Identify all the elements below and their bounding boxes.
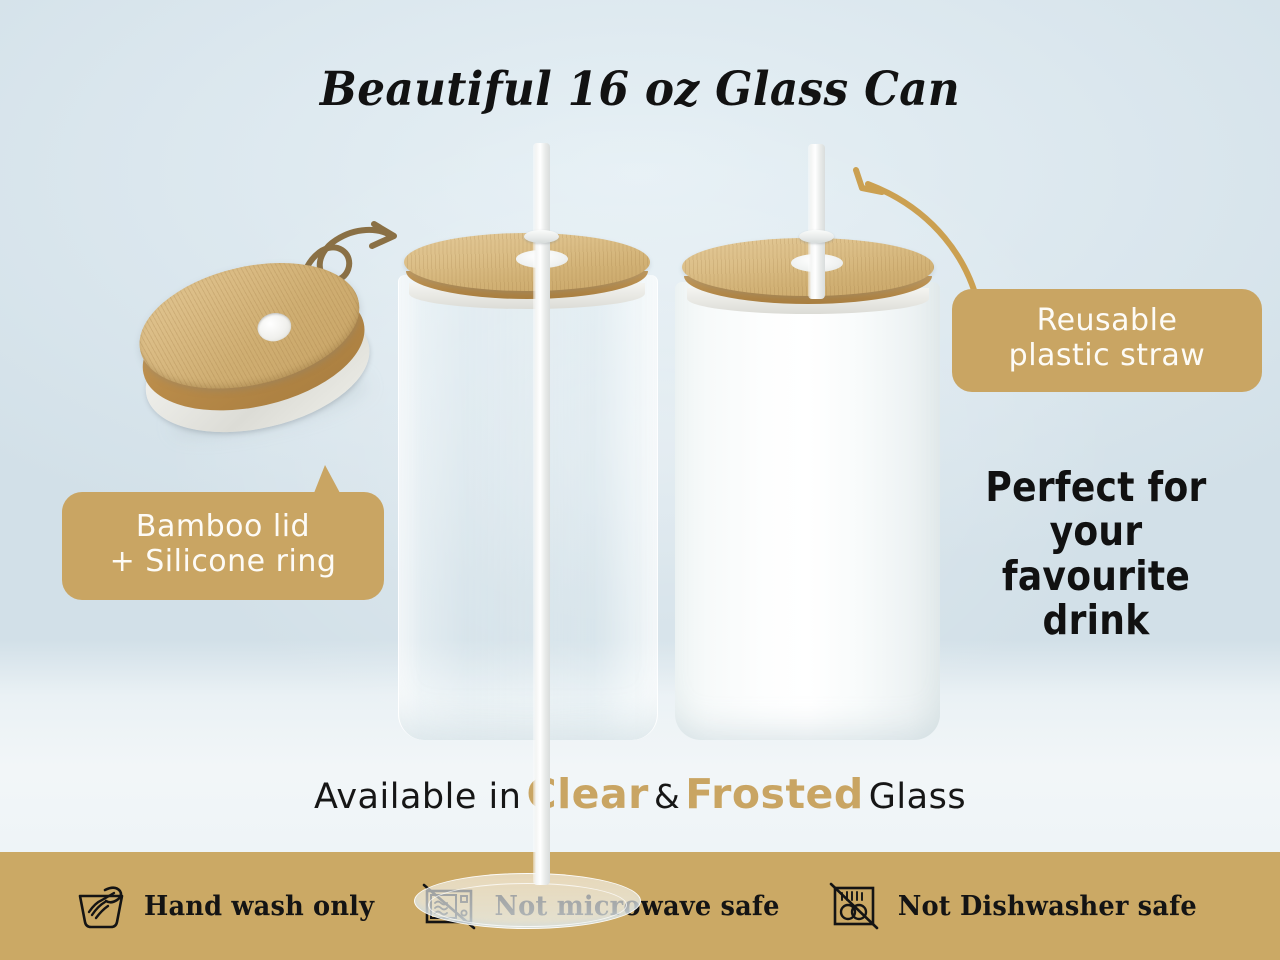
infographic-canvas: Beautiful 16 oz Glass Can [0, 0, 1280, 960]
tagline-line-2: your favourite [959, 509, 1234, 598]
availability-separator: & [654, 777, 680, 816]
availability-line: Available in Clear & Frosted Glass [0, 770, 1280, 818]
straw-collar [524, 230, 559, 243]
plastic-straw [808, 144, 825, 299]
care-label: Not Dishwasher safe [898, 891, 1197, 922]
glass-body [675, 282, 940, 740]
care-label: Hand wash only [144, 891, 374, 922]
callout-bamboo-lid: Bamboo lid + Silicone ring [62, 492, 384, 600]
tagline: Perfect for your favourite drink [959, 465, 1234, 642]
frosted-glass-can [675, 232, 940, 740]
page-title: Beautiful 16 oz Glass Can [45, 62, 1235, 117]
callout-plastic-straw: Reusable plastic straw [952, 289, 1262, 392]
callout-line-1: Reusable [962, 303, 1252, 338]
callout-line-2: + Silicone ring [72, 544, 374, 579]
callout-line-1: Bamboo lid [72, 509, 374, 544]
availability-prefix: Available in [314, 777, 521, 817]
care-instructions-bar: Hand wash only Not microwave safe [0, 852, 1280, 960]
tagline-line-3: drink [959, 598, 1234, 642]
callout-tail [314, 465, 340, 493]
tagline-line-1: Perfect for [959, 465, 1234, 509]
no-dishwasher-icon [829, 882, 879, 930]
care-item-hand-wash: Hand wash only [75, 882, 380, 930]
glass-body [398, 275, 658, 740]
availability-option-frosted: Frosted [685, 770, 863, 818]
clear-glass-can [398, 225, 656, 740]
straw-collar [799, 230, 834, 243]
hand-wash-icon [75, 882, 127, 930]
callout-line-2: plastic straw [962, 338, 1252, 373]
glass-base-inner [428, 883, 627, 927]
availability-suffix: Glass [869, 777, 966, 817]
plastic-straw [533, 143, 550, 885]
care-item-no-dishwasher: Not Dishwasher safe [829, 882, 1205, 930]
